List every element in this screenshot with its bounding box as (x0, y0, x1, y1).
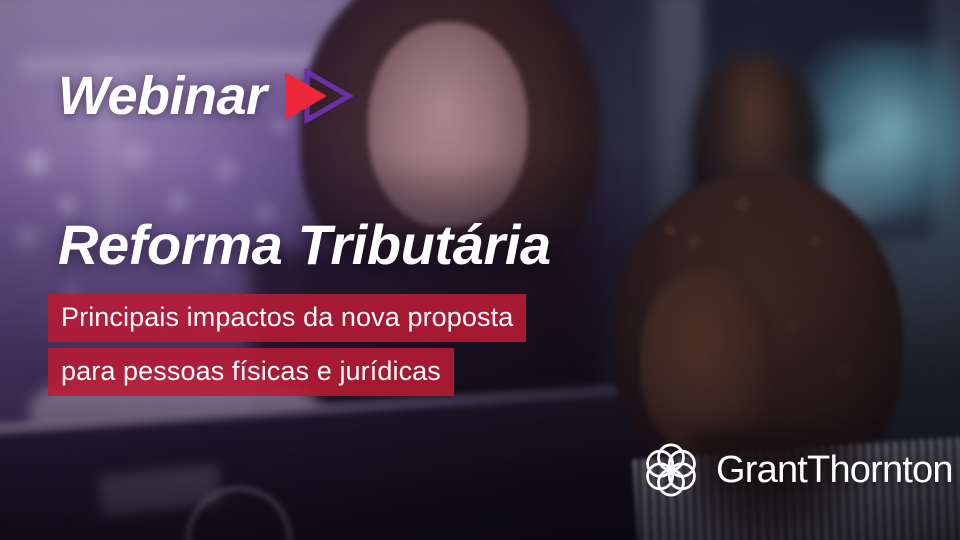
subtitle-line-2: para pessoas físicas e jurídicas (48, 348, 454, 396)
subtitle-group: Principais impactos da nova proposta par… (48, 294, 526, 396)
page-title: Reforma Tributária (58, 216, 551, 275)
webinar-banner: Webinar Reforma Tributária Principais im… (0, 0, 960, 540)
grant-thornton-logo: GrantThornton (638, 437, 953, 503)
eyebrow-lockup: Webinar (58, 68, 353, 124)
banner-content: Webinar Reforma Tributária Principais im… (0, 0, 960, 540)
webinar-label: Webinar (58, 69, 267, 123)
grant-thornton-rosette-icon (638, 437, 704, 503)
play-icon-group (281, 68, 353, 124)
subtitle-line-1: Principais impactos da nova proposta (48, 294, 526, 342)
grant-thornton-wordmark: GrantThornton (716, 451, 953, 489)
